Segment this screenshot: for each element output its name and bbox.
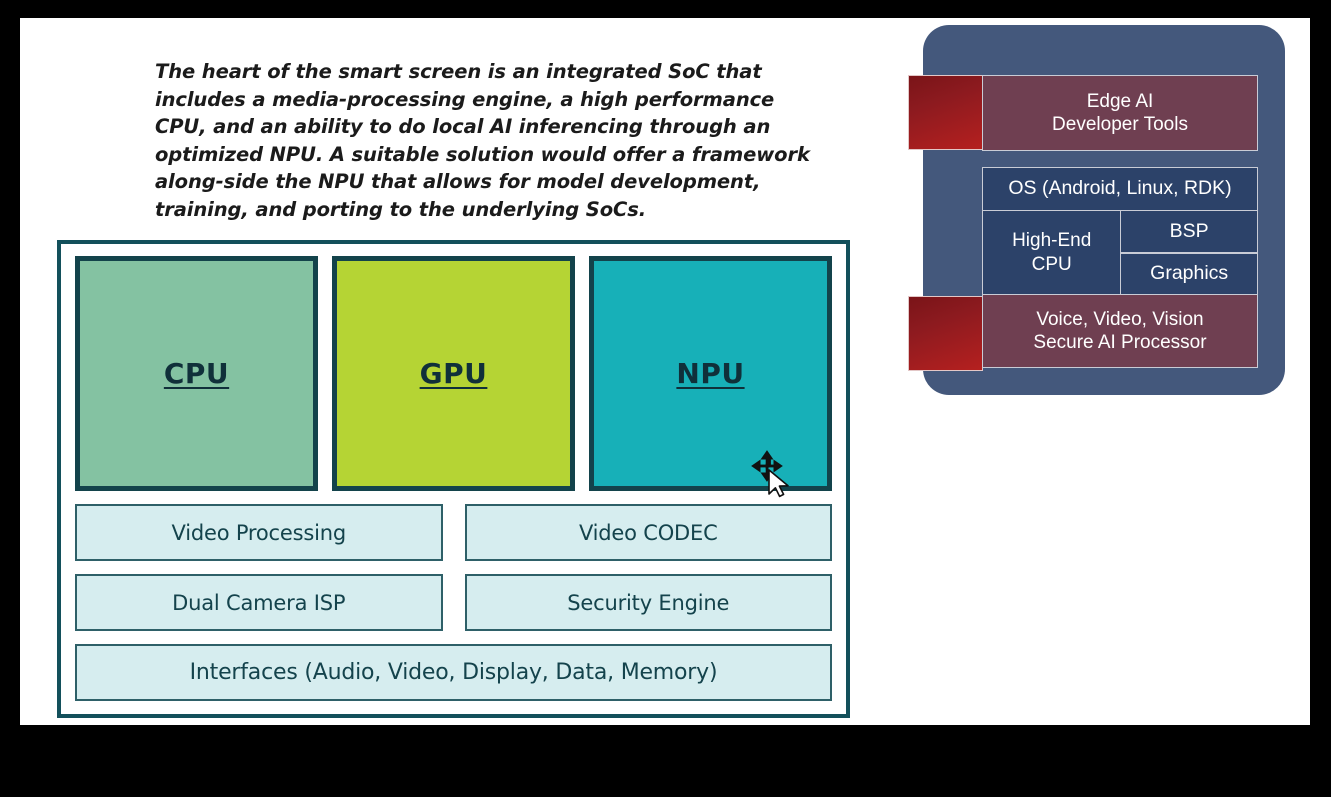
processor-row: CPU GPU NPU bbox=[75, 256, 832, 491]
cpu-line1: High-End bbox=[1012, 230, 1091, 251]
processor-label-npu: NPU bbox=[676, 357, 744, 390]
sub-block-row-1: Video Processing Video CODEC bbox=[75, 504, 832, 561]
stack-column: Edge AI Developer Tools OS (Android, Lin… bbox=[982, 75, 1258, 368]
ai-line2: Secure AI Processor bbox=[1033, 332, 1206, 353]
stack-band-cpu-text: High-End CPU bbox=[1012, 229, 1091, 275]
ai-line1: Voice, Video, Vision bbox=[1036, 309, 1203, 330]
stack-band-os[interactable]: OS (Android, Linux, RDK) bbox=[982, 167, 1258, 211]
stack-band-ai-text: Voice, Video, Vision Secure AI Processor bbox=[1033, 308, 1206, 354]
sub-block-interfaces[interactable]: Interfaces (Audio, Video, Display, Data,… bbox=[75, 644, 832, 701]
soc-block-diagram: CPU GPU NPU Video Processing Video CODEC… bbox=[57, 240, 850, 718]
screen-frame: The heart of the smart screen is an inte… bbox=[0, 0, 1331, 797]
processor-block-cpu[interactable]: CPU bbox=[75, 256, 318, 491]
processor-block-npu[interactable]: NPU bbox=[589, 256, 832, 491]
intro-paragraph: The heart of the smart screen is an inte… bbox=[155, 58, 815, 223]
stack-band-graphics[interactable]: Graphics bbox=[1121, 253, 1258, 295]
sub-block-security-engine[interactable]: Security Engine bbox=[465, 574, 833, 631]
sub-block-dual-camera-isp[interactable]: Dual Camera ISP bbox=[75, 574, 443, 631]
processor-block-gpu[interactable]: GPU bbox=[332, 256, 575, 491]
red-accent-tab-bottom bbox=[908, 296, 983, 371]
stack-mid-row: High-End CPU BSP Graphics bbox=[982, 211, 1258, 295]
stack-mid-right-column: BSP Graphics bbox=[1121, 211, 1258, 295]
sub-block-video-codec[interactable]: Video CODEC bbox=[465, 504, 833, 561]
processor-label-gpu: GPU bbox=[420, 357, 488, 390]
stack-band-developer-tools[interactable]: Edge AI Developer Tools bbox=[982, 75, 1258, 151]
stack-band-secure-ai-processor[interactable]: Voice, Video, Vision Secure AI Processor bbox=[982, 295, 1258, 368]
developer-tools-line2: Developer Tools bbox=[1052, 114, 1188, 135]
developer-tools-line1: Edge AI bbox=[1087, 91, 1154, 112]
architecture-stack-panel: Edge AI Developer Tools OS (Android, Lin… bbox=[923, 25, 1285, 395]
stack-band-high-end-cpu[interactable]: High-End CPU bbox=[982, 211, 1121, 295]
sub-block-video-processing[interactable]: Video Processing bbox=[75, 504, 443, 561]
soc-inner: CPU GPU NPU Video Processing Video CODEC… bbox=[75, 256, 832, 702]
processor-label-cpu: CPU bbox=[164, 357, 229, 390]
stack-band-developer-tools-text: Edge AI Developer Tools bbox=[1052, 90, 1188, 136]
cpu-line2: CPU bbox=[1032, 254, 1072, 275]
slide-page: The heart of the smart screen is an inte… bbox=[20, 18, 1310, 725]
stack-band-bsp[interactable]: BSP bbox=[1121, 211, 1258, 253]
sub-block-row-2: Dual Camera ISP Security Engine bbox=[75, 574, 832, 631]
red-accent-tab-top bbox=[908, 75, 983, 150]
